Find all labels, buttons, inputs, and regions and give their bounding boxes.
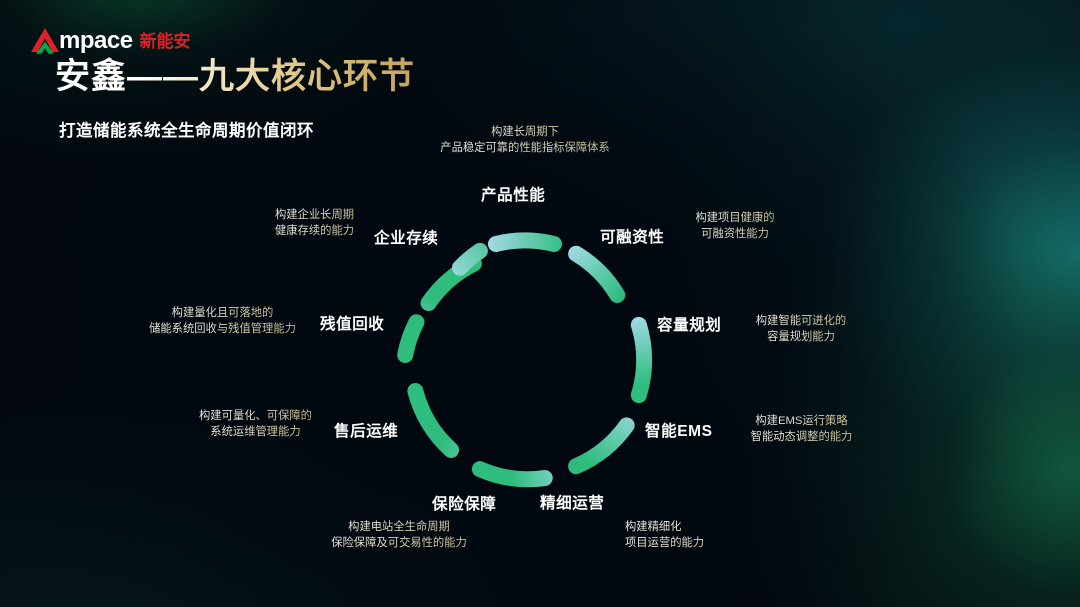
node-desc-line-2: 产品稳定可靠的性能指标保障体系 (400, 140, 650, 156)
node-desc-smart-ems: 构建EMS运行策略 智能动态调整的能力 (735, 413, 868, 446)
node-desc-line-2: 健康存续的能力 (258, 223, 371, 239)
node-desc-line-1: 构建可量化、可保障的 (186, 408, 325, 424)
ring-segment-5 (480, 469, 545, 479)
node-desc-line-1: 构建长周期下 (400, 124, 650, 140)
node-desc-refined-operations: 构建精细化 项目运营的能力 (625, 519, 765, 552)
page-subtitle: 打造储能系统全生命周期价值闭环 (59, 117, 314, 141)
node-desc-after-sales-om: 构建可量化、可保障的 系统运维管理能力 (186, 408, 325, 441)
nine-stage-cycle-ring (375, 210, 675, 510)
node-label-insurance-protection[interactable]: 保险保障 (432, 497, 496, 513)
node-desc-product-performance: 构建长周期下 产品稳定可靠的性能指标保障体系 (400, 124, 650, 157)
node-desc-line-2: 储能系统回收与残值管理能力 (135, 321, 310, 337)
node-label-financability[interactable]: 可融资性 (600, 230, 664, 246)
node-desc-line-1: 构建电站全生命周期 (288, 519, 510, 535)
node-desc-financability: 构建项目健康的 可融资性能力 (675, 210, 795, 243)
ring-segment-6 (415, 391, 451, 450)
cycle-ring-svg (375, 210, 675, 510)
ampace-a-mark-icon (30, 27, 60, 55)
node-label-smart-ems[interactable]: 智能EMS (645, 424, 713, 440)
node-desc-residual-recovery: 构建量化且可落地的 储能系统回收与残值管理能力 (135, 305, 310, 338)
brand-wordmark: mpace (59, 29, 133, 53)
page-title: 安鑫——九大核心环节 (55, 56, 415, 98)
node-desc-line-1: 构建项目健康的 (675, 210, 795, 226)
ring-segment-7 (405, 322, 416, 355)
brand-chinese-name: 新能安 (140, 33, 191, 50)
node-desc-line-1: 构建智能可进化的 (740, 313, 862, 329)
ring-segment-3 (639, 325, 644, 395)
node-desc-line-1: 构建企业长周期 (258, 207, 371, 223)
node-desc-line-2: 保险保障及可交易性的能力 (288, 535, 510, 551)
node-desc-line-2: 可融资性能力 (675, 226, 795, 242)
node-label-product-performance[interactable]: 产品性能 (481, 188, 545, 204)
node-label-residual-recovery[interactable]: 残值回收 (320, 317, 384, 333)
ring-segment-2 (576, 254, 617, 295)
slide-canvas: mpace 新能安 安鑫——九大核心环节 打造储能系统全生命周期价值闭环 (0, 0, 1080, 607)
node-desc-line-1: 构建EMS运行策略 (735, 413, 868, 429)
node-label-refined-operations[interactable]: 精细运营 (540, 496, 604, 512)
node-desc-line-2: 容量规划能力 (740, 329, 862, 345)
ring-segment-1 (496, 240, 554, 244)
node-label-enterprise-continuity[interactable]: 企业存续 (374, 231, 438, 247)
brand-logo: mpace 新能安 (30, 26, 191, 56)
node-desc-line-1: 构建精细化 (625, 519, 765, 535)
ring-segment-4 (576, 425, 627, 466)
node-desc-capacity-planning: 构建智能可进化的 容量规划能力 (740, 313, 862, 346)
node-desc-line-2: 智能动态调整的能力 (735, 429, 868, 445)
node-desc-enterprise-continuity: 构建企业长周期 健康存续的能力 (258, 207, 371, 240)
node-label-after-sales-om[interactable]: 售后运维 (334, 424, 398, 440)
node-desc-line-2: 项目运营的能力 (625, 535, 765, 551)
node-desc-insurance-protection: 构建电站全生命周期 保险保障及可交易性的能力 (288, 519, 510, 552)
node-desc-line-1: 构建量化且可落地的 (135, 305, 310, 321)
node-label-capacity-planning[interactable]: 容量规划 (657, 318, 721, 334)
node-desc-line-2: 系统运维管理能力 (186, 424, 325, 440)
